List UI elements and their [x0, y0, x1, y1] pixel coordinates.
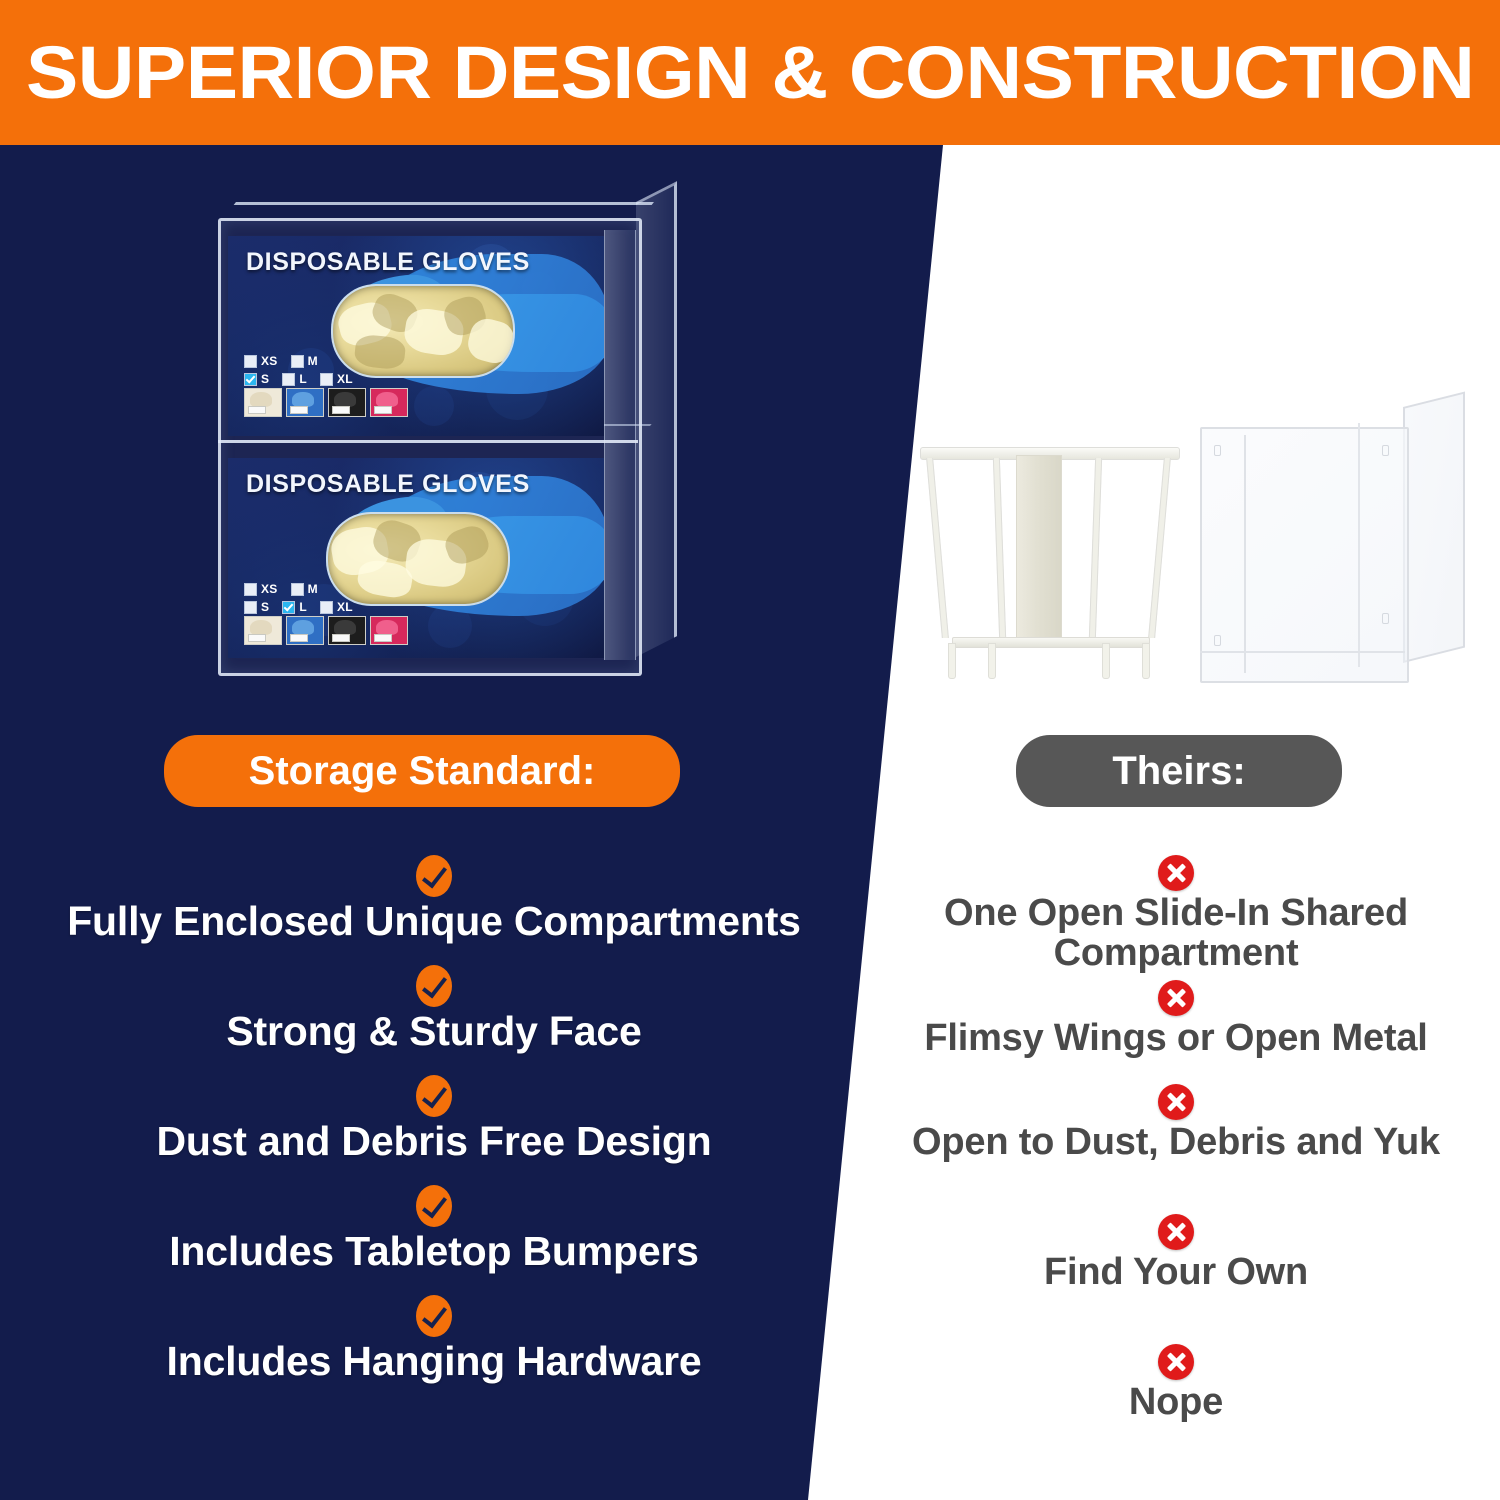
color-swatch-pink — [370, 388, 408, 417]
feature-list-ours: Fully Enclosed Unique Compartments Stron… — [0, 855, 868, 1405]
size-label: S — [261, 372, 269, 386]
size-checkbox-group-lower: XS M S L — [244, 582, 414, 618]
wire-rack-foot — [948, 643, 956, 679]
checkbox-l-checked-icon[interactable] — [282, 601, 295, 614]
acrylic-right-edge — [636, 181, 677, 657]
product-image-ours: DISPOSABLE GLOVES XS M — [196, 196, 678, 688]
feature-item: Includes Hanging Hardware — [0, 1295, 868, 1383]
product-image-theirs — [900, 395, 1490, 715]
size-label: M — [308, 354, 318, 368]
page-title: SUPERIOR DESIGN & CONSTRUCTION — [26, 30, 1474, 115]
competitor-wire-rack — [920, 425, 1180, 685]
feature-label: Fully Enclosed Unique Compartments — [67, 900, 801, 943]
checkbox-m-icon[interactable] — [291, 583, 304, 596]
wire-rack-foot — [1142, 643, 1150, 679]
color-swatch-group-lower — [244, 616, 408, 645]
feature-label: Flimsy Wings or Open Metal — [924, 1018, 1427, 1058]
check-icon — [416, 965, 452, 1007]
feature-label: Open to Dust, Debris and Yuk — [912, 1122, 1440, 1162]
size-option-xs[interactable]: XS — [244, 582, 278, 596]
checkbox-m-icon[interactable] — [291, 355, 304, 368]
feature-label: Dust and Debris Free Design — [156, 1120, 711, 1163]
glove-palm-icon — [334, 392, 356, 407]
check-icon — [416, 855, 452, 897]
size-row: S L XL — [244, 372, 414, 386]
checkbox-l-icon[interactable] — [282, 373, 295, 386]
acrylic-box-side-panel — [1403, 392, 1465, 663]
competitor-open-acrylic-box — [1200, 405, 1465, 690]
swatch-tag — [374, 406, 392, 414]
feature-label: Nope — [1129, 1382, 1223, 1422]
size-row: XS M — [244, 354, 414, 368]
x-icon — [1158, 1344, 1194, 1380]
header-banner: SUPERIOR DESIGN & CONSTRUCTION — [0, 0, 1500, 145]
mounting-hole-icon — [1382, 613, 1389, 624]
check-icon — [416, 1185, 452, 1227]
feature-item: Fully Enclosed Unique Compartments — [0, 855, 868, 943]
swatch-tag — [290, 406, 308, 414]
size-label: L — [299, 372, 307, 386]
size-label: L — [299, 600, 307, 614]
acrylic-inner-side-wall — [604, 230, 636, 660]
feature-item: One Open Slide-In Shared Compartment — [852, 855, 1500, 974]
swatch-tag — [332, 634, 350, 642]
wire-rack-leg — [926, 458, 949, 638]
color-swatch-blue — [286, 388, 324, 417]
color-swatch-black — [328, 616, 366, 645]
size-label: XL — [337, 372, 353, 386]
size-option-l[interactable]: L — [282, 600, 307, 614]
feature-label: Find Your Own — [1044, 1252, 1308, 1292]
x-icon — [1158, 1214, 1194, 1250]
checkbox-xl-icon[interactable] — [320, 373, 333, 386]
swatch-tag — [332, 406, 350, 414]
feature-item: Open to Dust, Debris and Yuk — [852, 1084, 1500, 1162]
wire-rack-foot — [1102, 643, 1110, 679]
mounting-hole-icon — [1214, 445, 1221, 456]
acrylic-shelf-divider — [218, 440, 638, 443]
swatch-tag — [248, 406, 266, 414]
feature-label: One Open Slide-In Shared Compartment — [876, 893, 1476, 974]
size-option-s[interactable]: S — [244, 600, 269, 614]
wire-rack-foot — [988, 643, 996, 679]
checkbox-s-checked-icon[interactable] — [244, 373, 257, 386]
check-icon — [416, 1075, 452, 1117]
size-option-xl[interactable]: XL — [320, 372, 353, 386]
wire-rack-leg — [1089, 458, 1102, 638]
size-option-m[interactable]: M — [291, 582, 318, 596]
size-option-l[interactable]: L — [282, 372, 307, 386]
mounting-hole-icon — [1382, 445, 1389, 456]
size-row: XS M — [244, 582, 414, 596]
size-row: S L XL — [244, 600, 414, 614]
size-checkbox-group-upper: XS M S L — [244, 354, 414, 390]
size-option-xl[interactable]: XL — [320, 600, 353, 614]
glove-box-title: DISPOSABLE GLOVES — [246, 248, 530, 277]
glove-palm-icon — [376, 620, 398, 635]
feature-list-theirs: One Open Slide-In Shared Compartment Fli… — [852, 855, 1500, 1423]
feature-item: Dust and Debris Free Design — [0, 1075, 868, 1163]
color-swatch-black — [328, 388, 366, 417]
size-label: XS — [261, 354, 278, 368]
acrylic-box-bottom-lip — [1200, 651, 1405, 653]
checkbox-xs-icon[interactable] — [244, 583, 257, 596]
size-label: M — [308, 582, 318, 596]
wire-rack-leg — [1148, 458, 1171, 638]
size-option-xs[interactable]: XS — [244, 354, 278, 368]
color-swatch-group-upper — [244, 388, 408, 417]
glove-palm-icon — [292, 620, 314, 635]
x-icon — [1158, 1084, 1194, 1120]
x-icon — [1158, 980, 1194, 1016]
acrylic-box-front-panel — [1200, 427, 1409, 683]
feature-item: Includes Tabletop Bumpers — [0, 1185, 868, 1273]
glove-palm-icon — [334, 620, 356, 635]
wire-rack-leg — [993, 458, 1006, 638]
badge-storage-standard: Storage Standard: — [164, 735, 680, 807]
glove-palm-icon — [292, 392, 314, 407]
swatch-tag — [374, 634, 392, 642]
color-swatch-cream — [244, 388, 282, 417]
swatch-tag — [248, 634, 266, 642]
x-icon — [1158, 855, 1194, 891]
check-icon — [416, 1295, 452, 1337]
glove-box-title: DISPOSABLE GLOVES — [246, 470, 530, 499]
feature-item: Flimsy Wings or Open Metal — [852, 980, 1500, 1058]
feature-label: Includes Tabletop Bumpers — [169, 1230, 699, 1273]
wire-rack-bottom-bar — [952, 637, 1150, 648]
acrylic-box-inner-wall — [1244, 435, 1246, 673]
size-label: XS — [261, 582, 278, 596]
size-option-m[interactable]: M — [291, 354, 318, 368]
swatch-tag — [290, 634, 308, 642]
wire-rack-back-plate — [1016, 455, 1062, 643]
glove-palm-icon — [376, 392, 398, 407]
feature-label: Strong & Sturdy Face — [226, 1010, 641, 1053]
glove-palm-icon — [250, 620, 272, 635]
feature-item: Strong & Sturdy Face — [0, 965, 868, 1053]
glove-box-upper: DISPOSABLE GLOVES XS M — [228, 236, 604, 436]
mounting-hole-icon — [1214, 635, 1221, 646]
feature-label: Includes Hanging Hardware — [167, 1340, 702, 1383]
size-option-s[interactable]: S — [244, 372, 269, 386]
bokeh-dot — [414, 386, 454, 426]
acrylic-box-inner-wall — [1358, 423, 1360, 667]
color-swatch-cream — [244, 616, 282, 645]
checkbox-xl-icon[interactable] — [320, 601, 333, 614]
feature-item: Nope — [852, 1344, 1500, 1422]
infographic-canvas: SUPERIOR DESIGN & CONSTRUCTION DISPOSABL… — [0, 0, 1500, 1500]
glove-box-lower: DISPOSABLE GLOVES XS M — [228, 458, 604, 658]
size-label: S — [261, 600, 269, 614]
glove-palm-icon — [250, 392, 272, 407]
checkbox-xs-icon[interactable] — [244, 355, 257, 368]
color-swatch-pink — [370, 616, 408, 645]
badge-theirs: Theirs: — [1016, 735, 1342, 807]
feature-item: Find Your Own — [852, 1214, 1500, 1292]
color-swatch-blue — [286, 616, 324, 645]
size-label: XL — [337, 600, 353, 614]
checkbox-s-icon[interactable] — [244, 601, 257, 614]
